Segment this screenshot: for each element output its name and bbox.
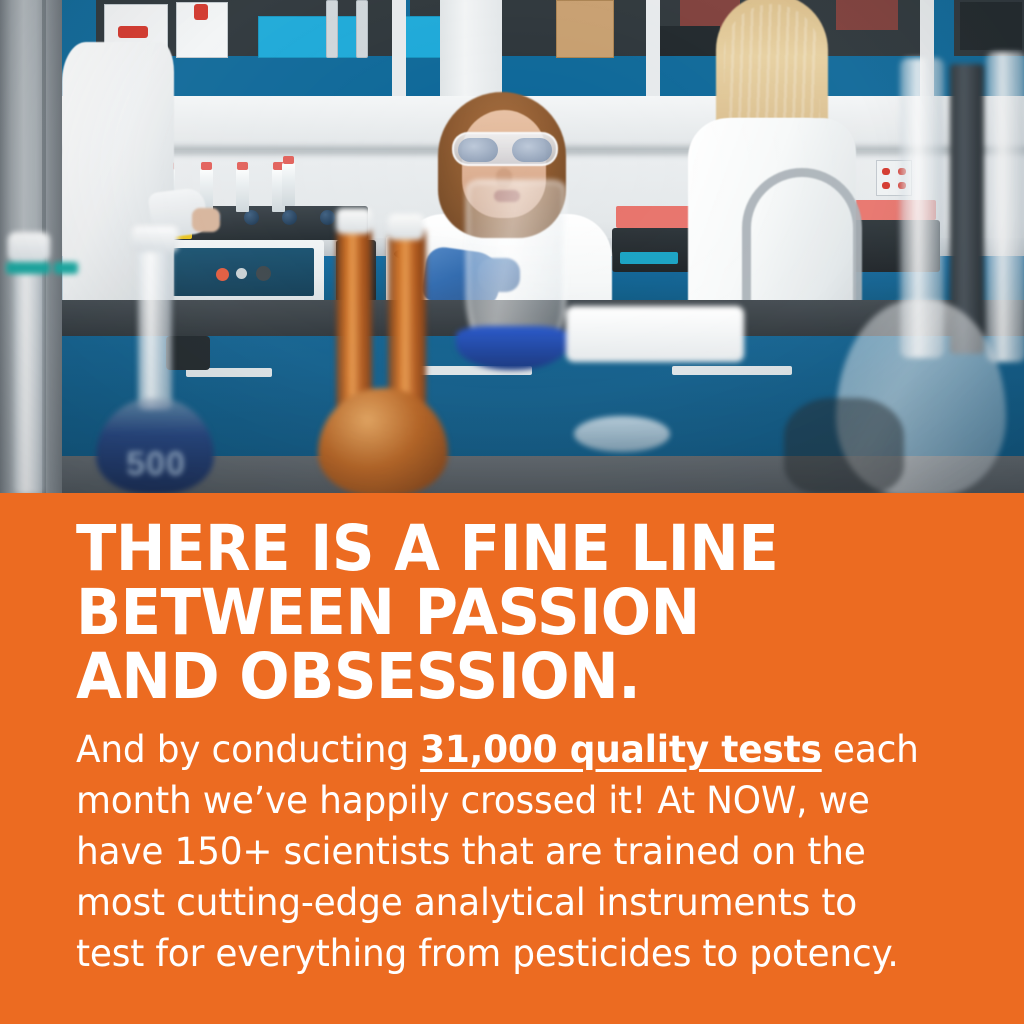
rack-cap-5 (320, 210, 335, 225)
amber-flask-cap-1 (336, 208, 372, 234)
goggles-lens-left (458, 138, 498, 162)
vial-3 (236, 168, 249, 212)
cabinet-label-red-1 (118, 26, 148, 38)
amber-flask-neck-2 (388, 228, 426, 414)
cabinet-divider-2 (646, 0, 660, 96)
cabinet-tube-2 (356, 0, 368, 58)
cabinet-divider-1 (392, 0, 406, 96)
right-foreground-shadow (784, 398, 904, 493)
body-text-before: And by conducting (76, 728, 420, 771)
left-scientist-hand (192, 208, 220, 232)
volumetric-flask-neck (138, 238, 172, 410)
bench-clamp (166, 336, 210, 370)
pipette-left (14, 248, 44, 493)
pipette-left-bulb (8, 232, 50, 262)
quality-tests-highlight: 31,000 quality tests (420, 728, 822, 771)
orange-text-panel: THERE IS A FINE LINE BETWEEN PASSION AND… (0, 493, 1024, 1024)
cabinet-shadow-1 (650, 26, 720, 56)
cabinet-label-red-2 (194, 4, 208, 20)
goggles-lens-right (512, 138, 552, 162)
flask-volume-label: 500 (108, 444, 204, 484)
pipette-teal-mark-2 (54, 262, 78, 274)
lab-photo: 500 (0, 0, 1024, 493)
glass-column-2 (986, 52, 1024, 362)
body-paragraph: And by conducting 31,000 quality tests e… (76, 724, 930, 979)
volumetric-flask-cap (132, 226, 178, 252)
promo-card: 500 THERE IS A FINE LINE BETWEEN PASSION… (0, 0, 1024, 1024)
page-title: THERE IS A FINE LINE BETWEEN PASSION AND… (76, 517, 922, 709)
outlet-indicator-3 (882, 182, 890, 189)
vial-5 (282, 162, 295, 206)
pipette-teal-mark-1 (6, 262, 50, 274)
outlet-indicator-1 (882, 168, 890, 175)
instrument-teal-stripe (620, 252, 678, 264)
instrument-knob-2 (256, 266, 271, 281)
rack-cap-4 (282, 210, 297, 225)
amber-flask-neck-1 (336, 222, 372, 412)
cabinet-box-blue (258, 16, 362, 58)
watch-glass-dish (574, 416, 670, 452)
white-lab-tray (566, 306, 744, 362)
cabinet-tube-1 (326, 0, 338, 58)
cabinet-box-maroon-2 (836, 0, 898, 30)
cabinet-box-kraft (556, 0, 614, 58)
amber-flask-cap-2 (388, 214, 424, 240)
cabinet-shadow-2 (960, 2, 1022, 50)
bench-drawer-handle-3 (672, 366, 792, 375)
instrument-indicator-red (216, 268, 229, 281)
instrument-knob-1 (236, 268, 247, 279)
instrument-display-left (152, 248, 314, 296)
rack-cap-3 (244, 210, 259, 225)
